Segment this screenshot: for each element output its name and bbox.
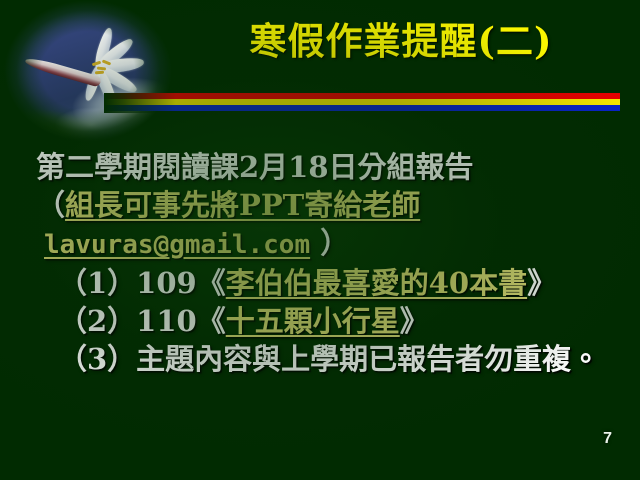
photo-vignette — [0, 0, 176, 142]
lily-photo — [0, 0, 176, 142]
slide-body: 第二學期閱讀課2月18日分組報告 （組長可事先將PPT寄給老師 lavuras@… — [36, 148, 632, 378]
list-item-2-booktitle: 十五顆小行星 — [226, 304, 400, 338]
paren-close: ） — [320, 226, 349, 260]
paren-open: （ — [36, 188, 65, 222]
bracket-open: 《 — [197, 304, 226, 338]
list-item-1-booktitle: 李伯伯最喜愛的40本書 — [226, 266, 527, 300]
rainbow-divider-bar — [104, 93, 620, 113]
body-line-email: lavuras@gmail.com ） — [36, 224, 632, 264]
list-item-1: （1）109《李伯伯最喜愛的40本書》 — [36, 264, 632, 302]
presentation-slide: 寒假作業提醒(二) 第二學期閱讀課2月18日分組報告 （組長可事先將PPT寄給老… — [0, 0, 640, 480]
rainbow-stripe-blue — [104, 105, 620, 111]
body-line-note-open: （組長可事先將PPT寄給老師 — [36, 186, 632, 224]
teacher-email-address[interactable]: lavuras@gmail.com — [44, 230, 310, 260]
list-item-3: （3）主題內容與上學期已報告者勿重複。 — [36, 340, 632, 378]
list-item-2-number: （2）110 — [58, 304, 197, 338]
list-item-2: （2）110《十五顆小行星》 — [36, 302, 632, 340]
slide-title: 寒假作業提醒(二) — [186, 18, 616, 64]
bracket-open: 《 — [197, 266, 226, 300]
bracket-close: 》 — [400, 304, 429, 338]
note-highlight-text: 組長可事先將PPT寄給老師 — [65, 188, 420, 222]
rainbow-left-fade — [104, 93, 176, 113]
page-number: 7 — [603, 430, 612, 448]
list-item-1-number: （1）109 — [58, 266, 197, 300]
bracket-close: 》 — [527, 266, 556, 300]
body-line-assignment: 第二學期閱讀課2月18日分組報告 — [36, 148, 632, 186]
